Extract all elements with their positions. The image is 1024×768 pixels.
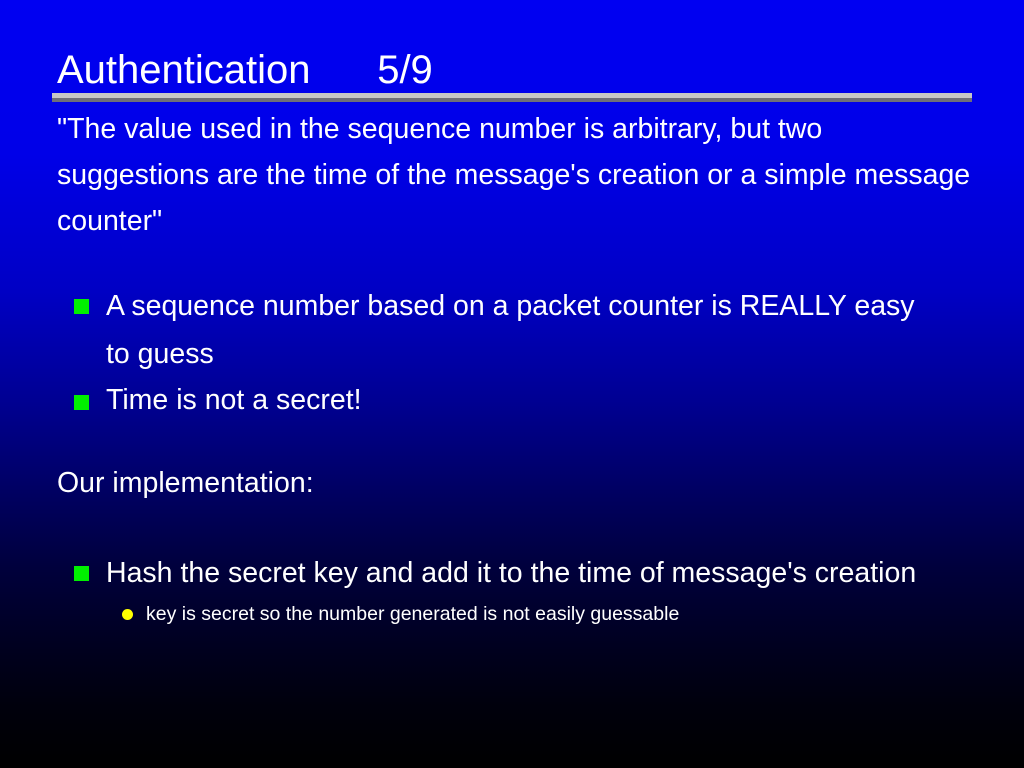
- bullet-list-implementation: Hash the secret key and add it to the ti…: [74, 549, 944, 631]
- list-item-label: Time is not a secret!: [106, 384, 362, 416]
- presentation-slide: Authentication 5/9 "The value used in th…: [0, 0, 1024, 768]
- title-block: Authentication 5/9: [57, 48, 977, 92]
- square-bullet-icon: [74, 566, 89, 581]
- list-item-label: Hash the secret key and add it to the ti…: [106, 557, 916, 589]
- list-item-label: A sequence number based on a packet coun…: [106, 290, 915, 370]
- page-title: Authentication 5/9: [57, 48, 977, 92]
- sub-list-item-label: key is secret so the number generated is…: [146, 603, 679, 625]
- list-item: Time is not a secret!: [74, 378, 944, 422]
- list-item: A sequence number based on a packet coun…: [74, 282, 944, 378]
- sub-list-item: key is secret so the number generated is…: [118, 597, 944, 631]
- square-bullet-icon: [74, 299, 89, 314]
- square-bullet-icon: [74, 395, 89, 410]
- section-label: Our implementation:: [57, 460, 657, 506]
- dot-bullet-icon: [122, 609, 133, 620]
- title-divider: [52, 93, 972, 98]
- sub-bullet-list: key is secret so the number generated is…: [106, 597, 944, 631]
- bullet-list-primary: A sequence number based on a packet coun…: [74, 282, 944, 422]
- quotation-text: "The value used in the sequence number i…: [57, 106, 972, 244]
- list-item: Hash the secret key and add it to the ti…: [74, 549, 944, 631]
